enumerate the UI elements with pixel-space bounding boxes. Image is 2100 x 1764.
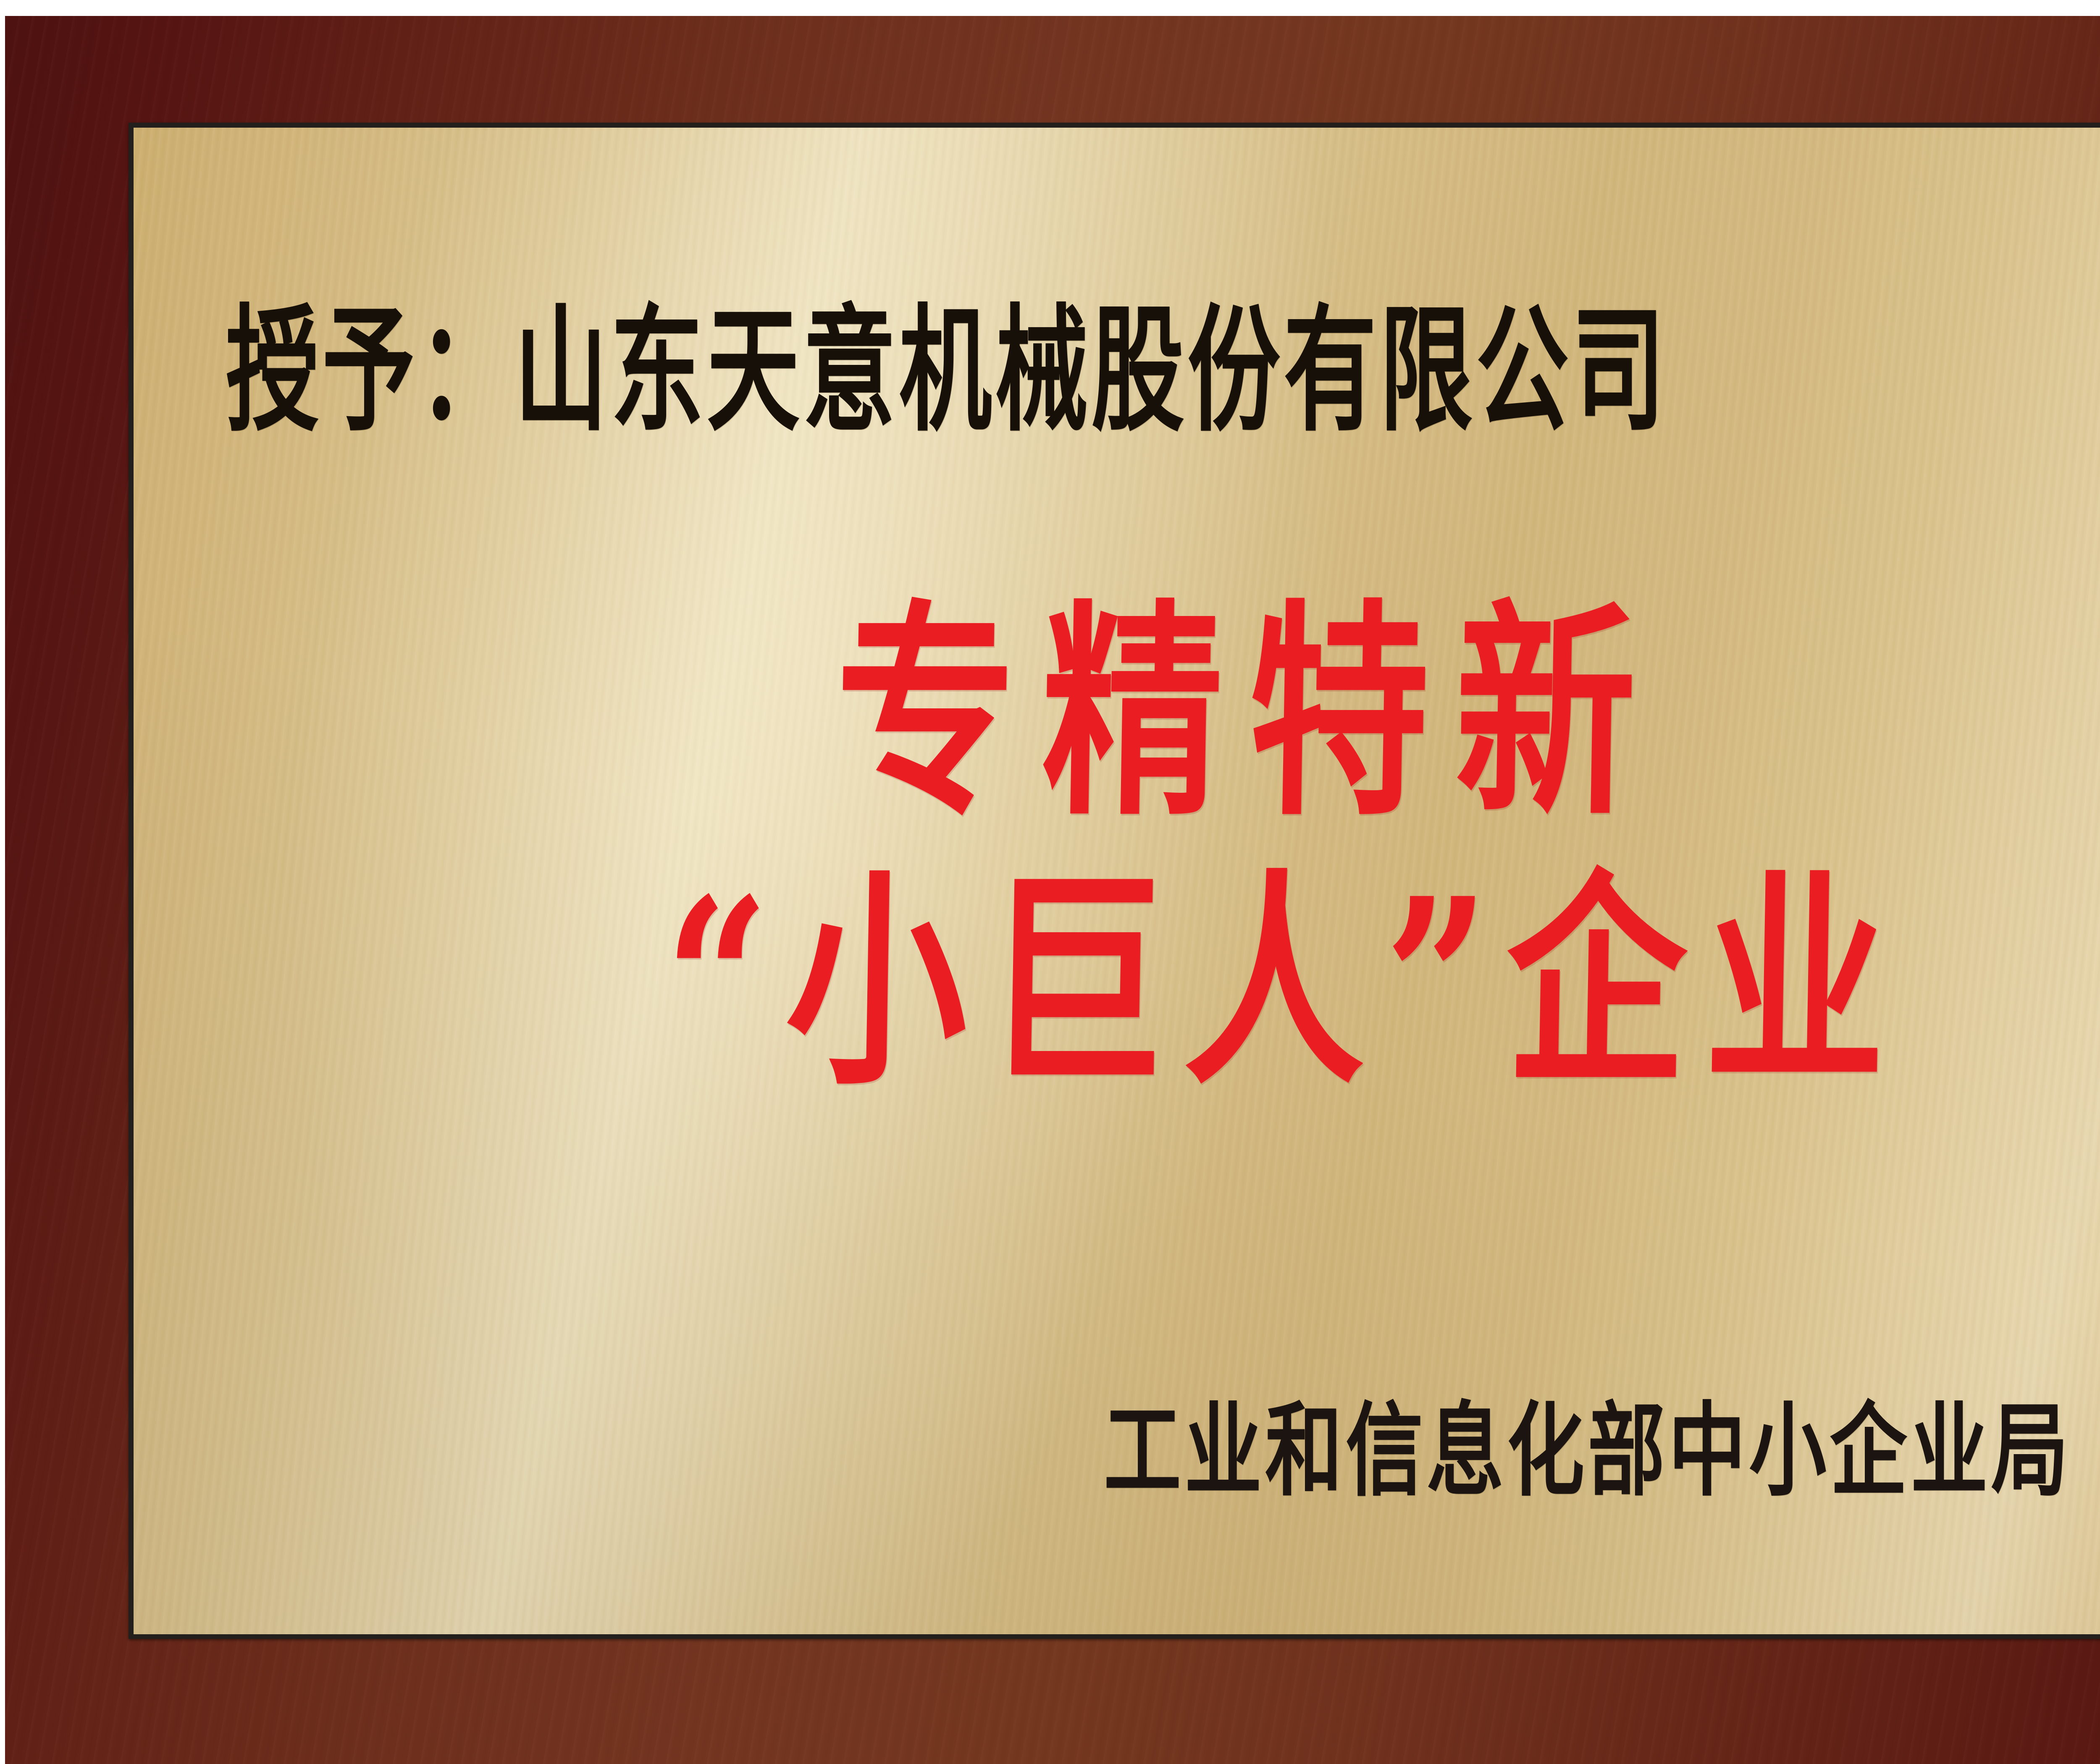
- issuing-authority-signature: 工业和信息化部中小企业局: [1104, 1368, 2100, 1515]
- award-plaque-page: 授予：山东天意机械股份有限公司 专精特新 “小巨人”企业 工业和信息化部中小企业…: [0, 0, 2100, 1764]
- plaque-text-content: 授予：山东天意机械股份有限公司 专精特新 “小巨人”企业 工业和信息化部中小企业…: [0, 0, 2100, 1764]
- award-title-line-2: “小巨人”企业: [440, 798, 2100, 1127]
- awardee-line: 授予：山东天意机械股份有限公司: [226, 260, 1693, 457]
